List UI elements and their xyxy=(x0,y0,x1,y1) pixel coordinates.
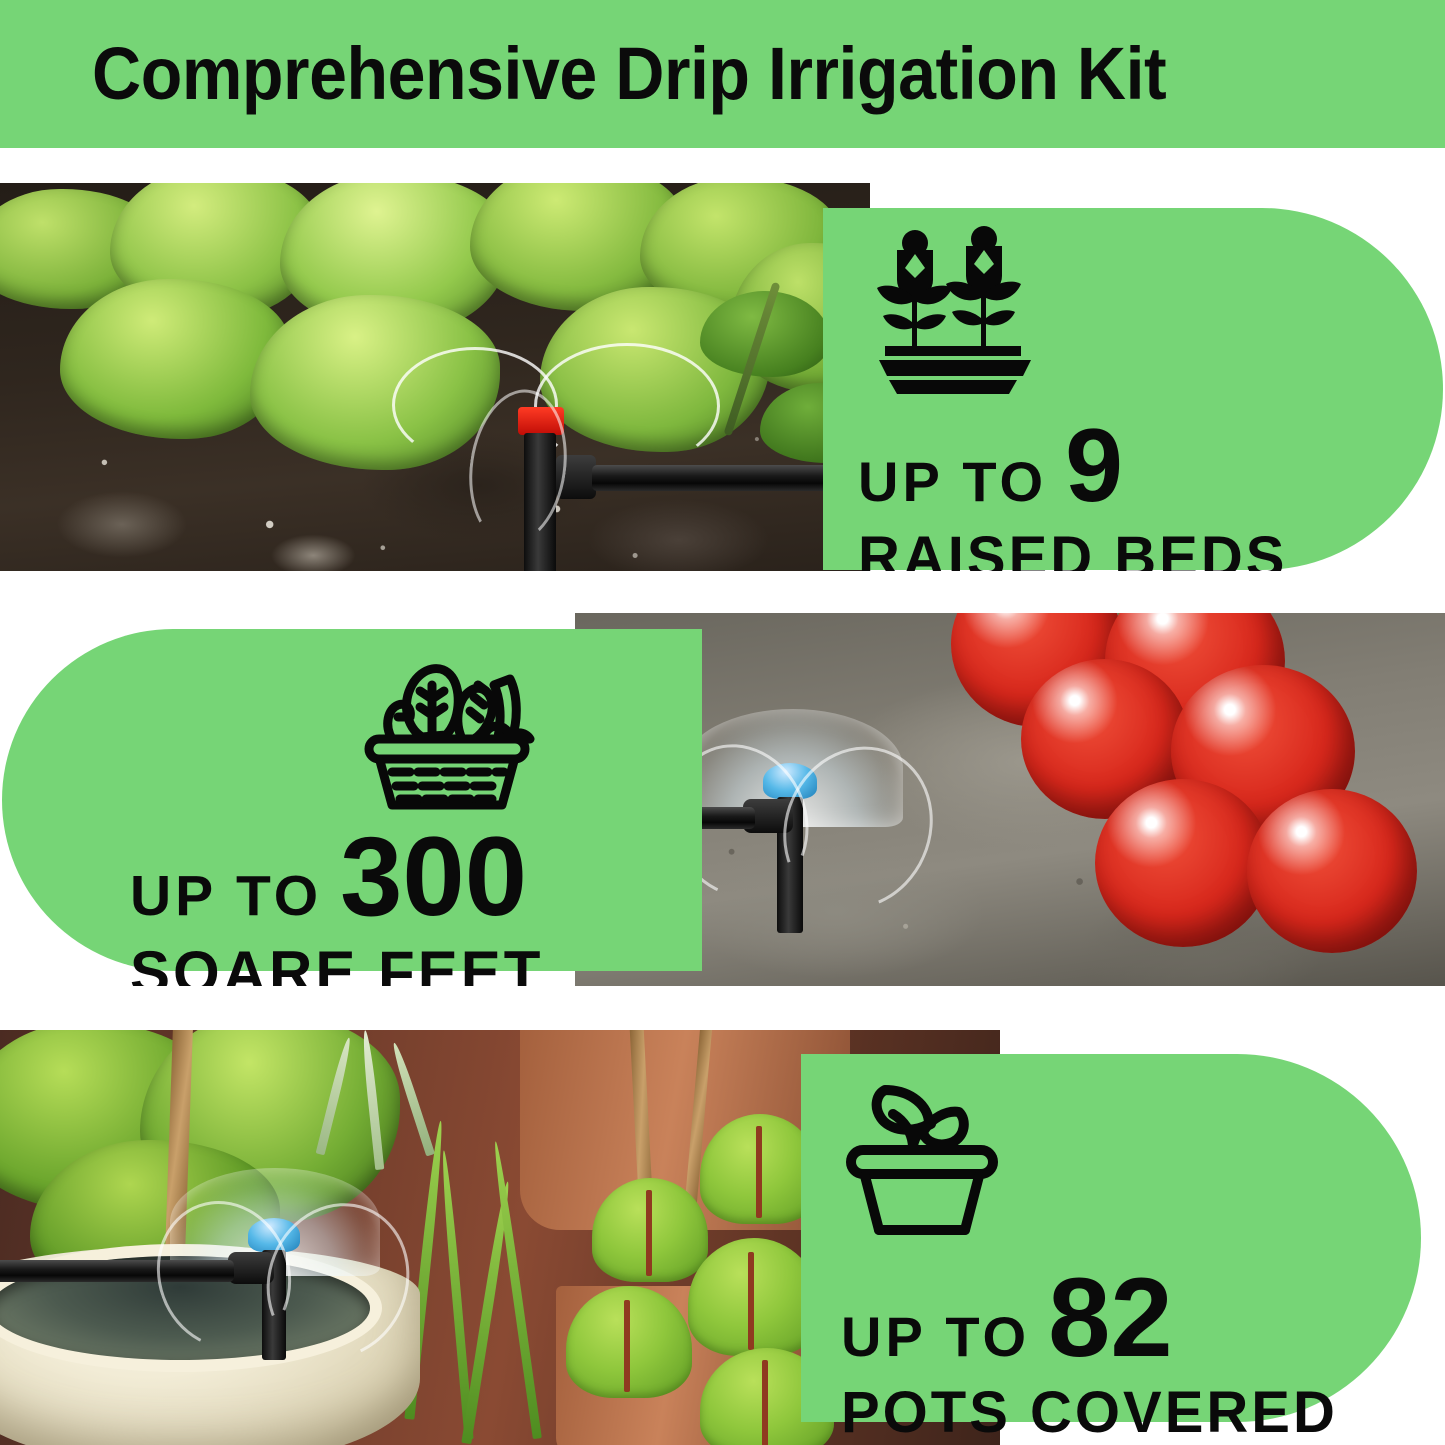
leaf-vein xyxy=(624,1300,630,1392)
tomato-vine-photo xyxy=(575,613,1445,986)
tomato xyxy=(1095,779,1271,947)
leaf-vein xyxy=(748,1252,754,1350)
panel-pots-covered: UP TO 82 POTS COVERED xyxy=(801,1054,1421,1422)
vegetable-basket-icon xyxy=(358,641,536,817)
stat-pots-covered: UP TO 82 POTS COVERED xyxy=(841,1270,1338,1442)
feature-row-raised-beds: UP TO 9 RAISED BEDS xyxy=(0,183,1445,571)
upto-label: UP TO xyxy=(841,1309,1030,1365)
panel-raised-beds: UP TO 9 RAISED BEDS xyxy=(823,208,1443,570)
feature-row-square-feet: UP TO 300 SQARE FEET xyxy=(0,613,1445,986)
title-banner: Comprehensive Drip Irrigation Kit xyxy=(0,0,1445,148)
product-infographic: Comprehensive Drip Irrigation Kit xyxy=(0,0,1445,1445)
tomato xyxy=(1247,789,1417,953)
stat-value: 300 xyxy=(340,829,527,925)
feature-row-pots-covered: UP TO 82 POTS COVERED xyxy=(0,1030,1445,1445)
upto-label: UP TO xyxy=(858,454,1047,510)
page-title: Comprehensive Drip Irrigation Kit xyxy=(92,37,1166,111)
panel-square-feet: UP TO 300 SQARE FEET xyxy=(2,629,702,971)
stat-raised-beds: UP TO 9 RAISED BEDS xyxy=(858,422,1287,571)
celery-raised-bed-photo xyxy=(0,183,870,571)
stat-value: 82 xyxy=(1048,1270,1173,1366)
upto-label: UP TO xyxy=(130,868,322,925)
stat-value: 9 xyxy=(1065,422,1123,511)
raised-bed-planter-icon xyxy=(871,226,1039,396)
leaf-vein xyxy=(762,1360,768,1445)
leaf-vein xyxy=(646,1190,652,1276)
stat-caption: RAISED BEDS xyxy=(858,529,1287,571)
stat-caption: SQARE FEET xyxy=(130,943,543,986)
stat-caption: POTS COVERED xyxy=(841,1384,1338,1442)
stat-square-feet: UP TO 300 SQARE FEET xyxy=(130,829,543,986)
potted-seedling-icon xyxy=(839,1076,1005,1244)
leaf-vein xyxy=(756,1126,762,1218)
